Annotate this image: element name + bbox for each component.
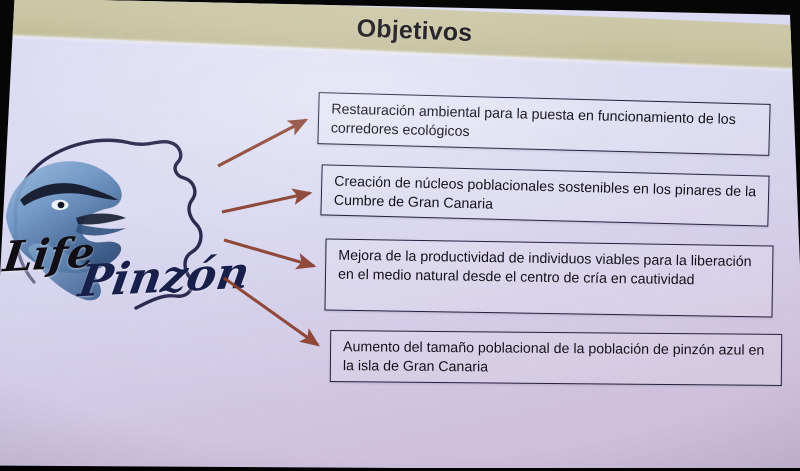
- objective-box-3[interactable]: Mejora de la productividad de individuos…: [324, 238, 773, 317]
- dark-room-background: Objetivos: [0, 0, 800, 456]
- projection-screen: Objetivos: [0, 0, 800, 468]
- arrow-to-objective-3: [224, 240, 314, 266]
- arrow-to-objective-1: [218, 120, 306, 166]
- arrow-to-objective-2: [222, 193, 310, 212]
- objective-box-4[interactable]: Aumento del tamaño poblacional de la pob…: [330, 330, 782, 386]
- arrow-to-objective-4: [224, 278, 318, 345]
